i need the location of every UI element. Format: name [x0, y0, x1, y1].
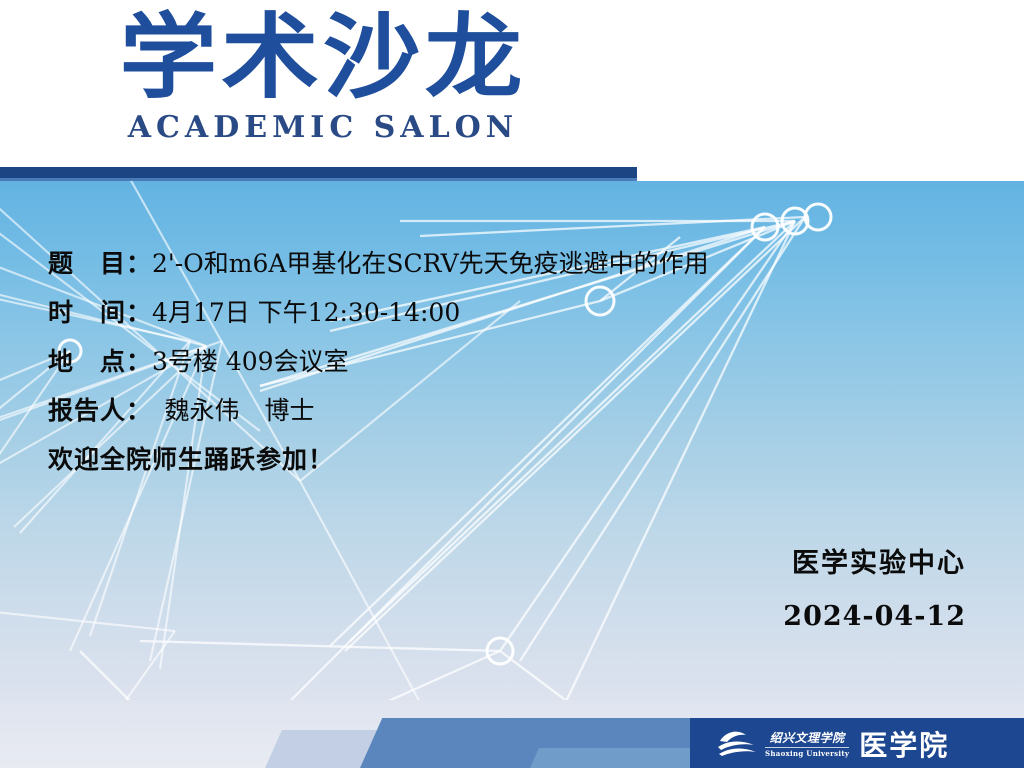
welcome-message: 欢迎全院师生踊跃参加！ [48, 447, 878, 472]
salon-logo: 学术沙龙 ACADEMIC SALON [88, 10, 558, 143]
poster-header: 学术沙龙 ACADEMIC SALON [0, 0, 1024, 185]
salon-logo-cn: 学术沙龙 [74, 10, 572, 107]
detail-value-topic: 2'-O和m6A甲基化在SCRV先天免疫逃避中的作用 [152, 249, 709, 278]
shaoxing-university-emblem-icon [716, 728, 758, 760]
detail-label-location: 地 点： [48, 347, 152, 376]
detail-value-time: 4月17日 下午12:30-14:00 [152, 298, 460, 327]
university-logo: 绍兴文理学院 Shaoxing University 医学院 [716, 722, 1016, 766]
university-name-cn: 绍兴文理学院 [765, 732, 849, 744]
academic-salon-poster: 学术沙龙 ACADEMIC SALON [0, 0, 1024, 768]
poster-body-panel: 题 目：2'-O和m6A甲基化在SCRV先天免疫逃避中的作用 时 间：4月17日… [0, 181, 1024, 720]
salon-logo-en: ACADEMIC SALON [88, 113, 558, 143]
event-details-list: 题 目：2'-O和m6A甲基化在SCRV先天免疫逃避中的作用 时 间：4月17日… [48, 251, 878, 496]
detail-label-topic: 题 目： [48, 249, 152, 278]
detail-row-time: 时 间：4月17日 下午12:30-14:00 [48, 300, 878, 325]
signature-date: 2024-04-12 [783, 601, 966, 632]
detail-row-speaker: 报告人： 魏永伟 博士 [48, 398, 878, 423]
university-name-group: 绍兴文理学院 Shaoxing University [765, 732, 849, 757]
detail-row-location: 地 点：3号楼 409会议室 [48, 349, 878, 374]
signature-organization: 医学实验中心 [783, 549, 966, 579]
header-divider-rule [0, 167, 637, 178]
detail-row-topic: 题 目：2'-O和m6A甲基化在SCRV先天免疫逃避中的作用 [48, 251, 878, 276]
detail-label-speaker: 报告人： [48, 396, 140, 425]
college-name: 医学院 [859, 724, 949, 764]
detail-label-time: 时 间： [48, 298, 152, 327]
university-name-en: Shaoxing University [765, 747, 849, 757]
detail-value-location: 3号楼 409会议室 [152, 347, 349, 376]
detail-value-speaker: 魏永伟 博士 [140, 396, 315, 425]
signature-block: 医学实验中心 2024-04-12 [783, 549, 966, 632]
